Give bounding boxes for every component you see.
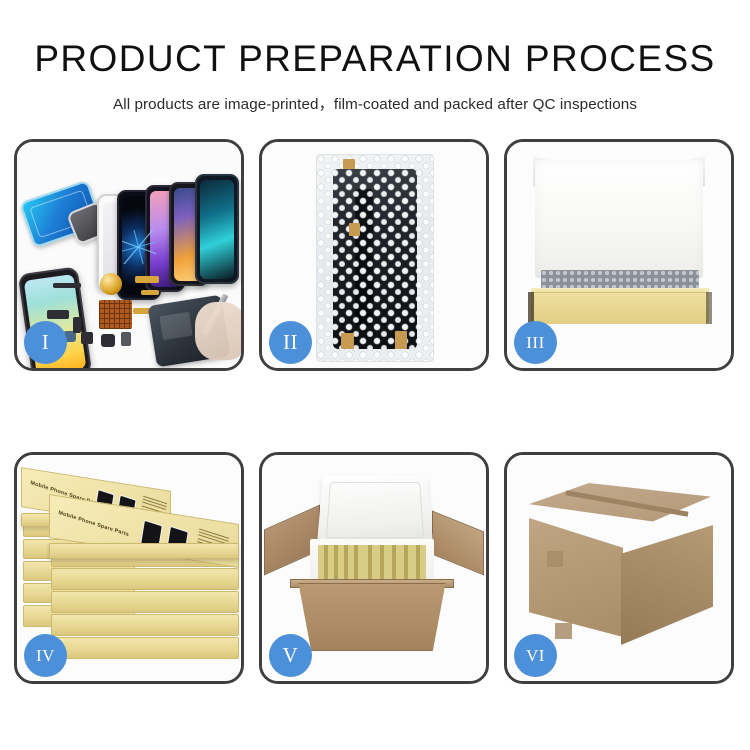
tape-middle [349,223,360,236]
step-badge-3: III [514,321,557,364]
taptic-part [101,334,115,347]
page-header: PRODUCT PREPARATION PROCESS All products… [0,0,750,114]
process-steps-grid: I II [14,139,736,684]
technician-hand [195,302,241,360]
process-step-panel-4: Mobile Phone Spare Parts Mobile Phone Sp… [14,452,244,684]
step-badge-5: V [269,634,312,677]
carton-tape-lower [555,623,572,639]
white-foam-sheet [535,160,703,278]
foam-box-lid [317,476,433,546]
process-step-panel-2: II [259,139,489,371]
carton-body [292,583,452,651]
step-badge-6-label: VI [526,646,545,666]
step-badge-1: I [24,321,67,364]
bubble-wrap-bag [316,154,434,362]
step-badge-4: IV [24,634,67,677]
process-step-panel-5: V [259,452,489,684]
carton-side-face [621,525,713,645]
stacked-box [51,591,239,613]
connector-part [53,283,81,288]
step-badge-2: II [269,321,312,364]
flex-cable-3 [141,290,159,295]
vibration-motor-part [100,273,122,295]
screen-flex-strip [355,189,373,325]
bracket-part [47,310,69,319]
top-box-body-2 [49,543,239,559]
step-badge-1-label: I [42,330,50,355]
flex-cable-1 [135,276,159,283]
stacked-box [51,637,239,659]
carton-front-face [529,513,623,637]
stacked-box [51,614,239,636]
tape-bottom-left [341,333,354,349]
stacked-box [51,568,239,590]
product-preparation-process-page: PRODUCT PREPARATION PROCESS All products… [0,0,750,750]
process-step-panel-3: III [504,139,734,371]
wrapped-screen [333,169,417,349]
tape-top [343,159,355,169]
yellow-boxes-inside [318,545,426,583]
yellow-box-front [531,292,709,324]
button-part [121,332,131,346]
step-badge-4-label: IV [36,646,55,666]
box-edge-right [706,292,712,324]
screw-set-part [73,317,81,333]
speaker-part [81,332,93,344]
process-step-panel-1: I [14,139,244,371]
step-badge-2-label: II [283,330,298,355]
box-label-2: Mobile Phone Spare Parts [58,510,129,538]
page-title: PRODUCT PREPARATION PROCESS [0,40,750,79]
page-subtitle: All products are image-printed，film-coat… [0,92,750,114]
chip-array-part [99,300,132,329]
step-badge-5-label: V [283,643,299,668]
process-step-panel-6: VI [504,452,734,684]
tape-bottom-right [395,331,407,349]
teal-display-phone [195,174,239,284]
step-badge-6: VI [514,634,557,677]
carton-tape-upper [547,551,563,567]
step-badge-3-label: III [526,333,544,353]
box-edge-left [528,292,534,324]
carton-flap-right [432,510,484,575]
